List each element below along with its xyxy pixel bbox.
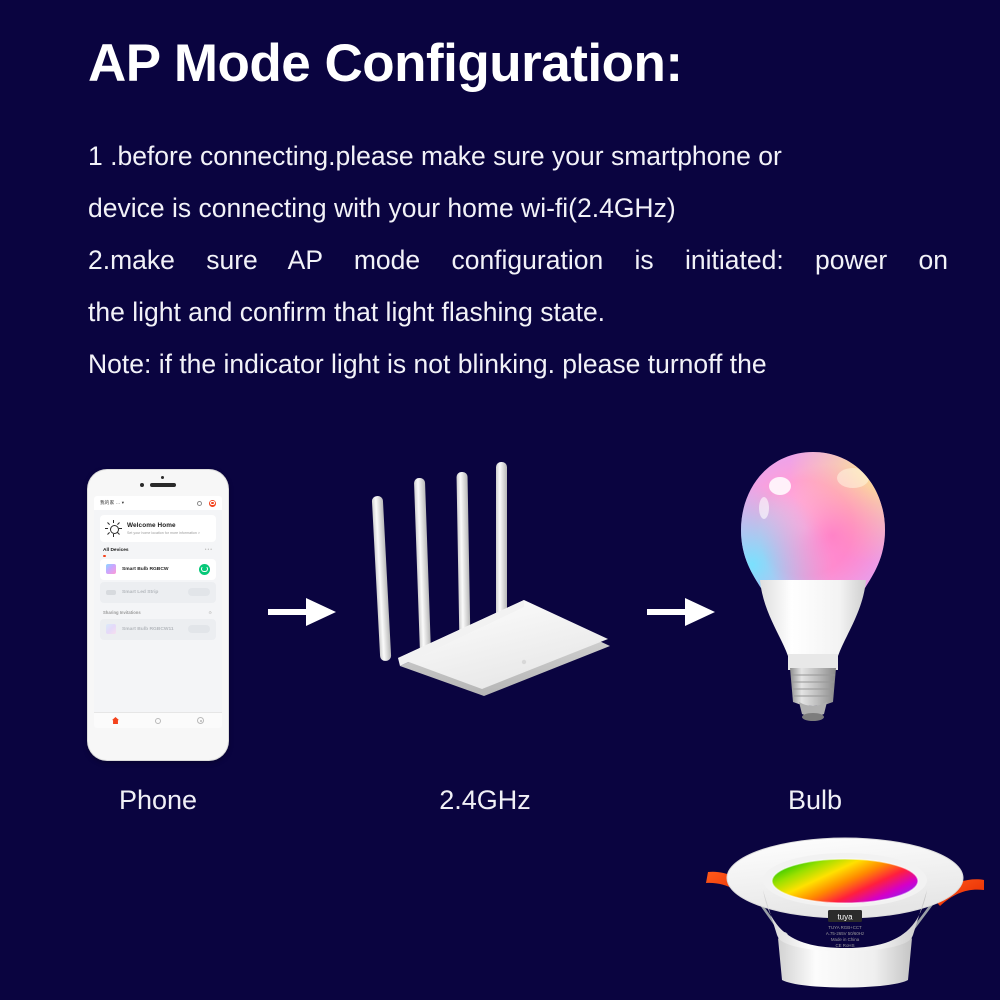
device-name: Smart Bulb RGBCW11 [122,627,182,632]
phone-screen: 我的家 ... ▾ Welcome Home Set y [94,496,222,728]
section-title: All Devices [103,548,129,553]
app-bar-icons [197,500,216,507]
svg-text:A.75-265V 50/60Hz: A.75-265V 50/60Hz [826,931,864,936]
instruction-line-4: the light and confirm that light flashin… [88,286,948,338]
arrow-right-icon-1 [266,590,338,634]
speaker-slit-icon [150,483,176,487]
bulb-body [760,580,866,670]
profile-circle-icon[interactable] [209,500,216,507]
phone-mockup: 我的家 ... ▾ Welcome Home Set y [88,470,228,760]
phone-earpiece-area [88,470,228,496]
tuya-logo-text: tuya [837,913,853,922]
device-row-shared-bulb[interactable]: Smart Bulb RGBCW11 [100,619,216,640]
router-body [398,600,610,696]
instruction-line-3: 2.make sure AP mode configuration is ini… [88,234,948,286]
wifi-router-device [348,450,618,700]
svg-text:CE RoHS: CE RoHS [835,943,854,948]
device-row-smart-bulb[interactable]: Smart Bulb RGBCW [100,559,216,580]
welcome-title: Welcome Home [127,522,200,529]
section-header-sharing: Sharing Invitations ⚙ [94,605,222,617]
caption-phone: Phone [88,785,228,816]
arrow-right-icon-2 [645,590,717,634]
svg-text:Made in China: Made in China [831,937,860,942]
scene-icon[interactable] [155,718,161,724]
welcome-subtitle: Set your home location for more informat… [127,531,200,535]
instructions-block: 1 .before connecting.please make sure yo… [88,130,948,390]
bulb-dome [733,440,893,600]
sun-icon [106,521,121,536]
section-header-all-devices: All Devices ••• [94,542,222,555]
pill-placeholder-icon [188,588,210,596]
home-selector-label: 我的家 ... [100,500,120,505]
downlight-spec-text: TUYA RGB+CCT A.75-265V 50/60Hz Made in C… [826,925,864,948]
caption-router: 2.4GHz [405,785,565,816]
profile-icon[interactable] [197,717,204,724]
active-tab-indicator [103,555,106,557]
device-name: Smart Bulb RGBCW [122,567,193,572]
instruction-line-5: Note: if the indicator light is not blin… [88,338,948,390]
rgb-downlight-device: tuya TUYA RGB+CCT A.75-265V 50/60Hz Made… [700,830,990,990]
rgb-smart-bulb-device [733,440,893,740]
bulb-thumb-icon [106,624,116,634]
caption-bulb: Bulb [745,785,885,816]
bulb-screw-base [790,668,836,721]
camera-dot-icon [140,483,144,487]
led-strip-thumb-icon [106,587,116,597]
page-title: AP Mode Configuration: [88,33,683,94]
device-row-led-strip[interactable]: Smart Led Strip [100,582,216,603]
pill-placeholder-icon [188,625,210,633]
gear-small-icon[interactable]: ⚙ [208,610,213,615]
instruction-line-2: device is connecting with your home wi-f… [88,182,948,234]
sensor-dot-icon [161,476,164,479]
svg-text:TUYA RGB+CCT: TUYA RGB+CCT [828,925,862,930]
power-toggle-icon[interactable] [199,564,210,575]
gear-icon[interactable] [197,501,202,506]
instruction-line-1: 1 .before connecting.please make sure yo… [88,130,948,182]
more-dots-icon[interactable]: ••• [205,547,213,553]
chevron-down-icon: ▾ [122,500,125,505]
welcome-card[interactable]: Welcome Home Set your home location for … [100,515,216,542]
home-selector[interactable]: 我的家 ... ▾ [100,500,124,506]
tab-bar [94,712,222,728]
section-title: Sharing Invitations [103,610,141,615]
home-icon[interactable] [112,717,119,724]
app-bar: 我的家 ... ▾ [94,496,222,510]
device-name: Smart Led Strip [122,590,182,595]
bulb-thumb-icon [106,564,116,574]
